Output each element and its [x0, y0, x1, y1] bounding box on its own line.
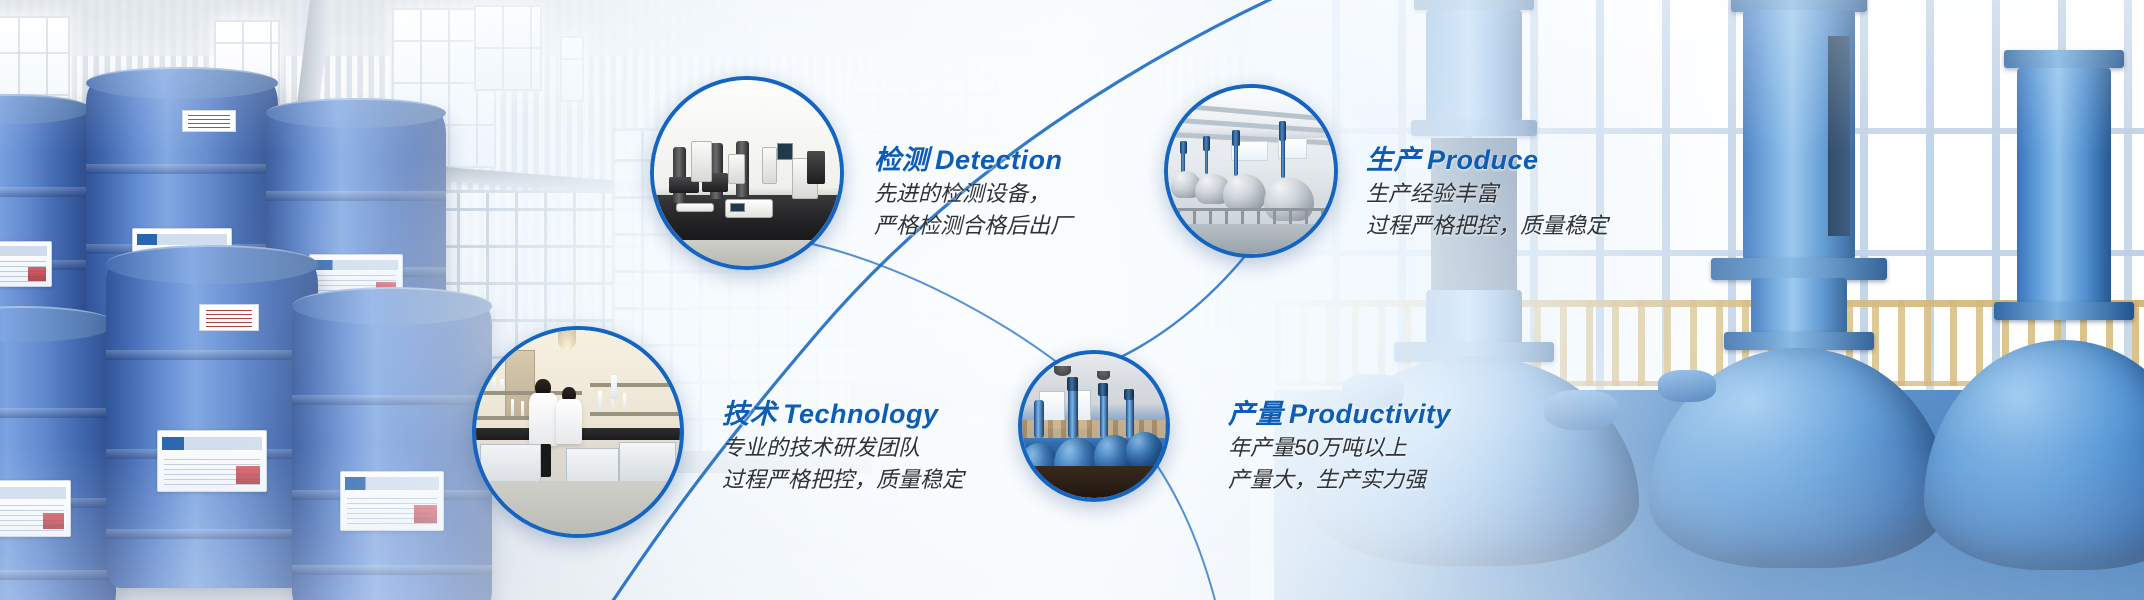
productivity-blue-reactors-photo — [1022, 354, 1166, 498]
produce-photo-circle[interactable] — [1164, 84, 1338, 258]
detection-photo-circle[interactable] — [650, 76, 844, 270]
produce-title-en: Produce — [1427, 145, 1539, 175]
technology-heading: 技术Technology — [722, 398, 964, 432]
produce-to-productivity-link — [1110, 250, 1250, 362]
technology-line-1: 专业的技术研发团队 — [722, 432, 964, 465]
productivity-text-block: 产量Productivity 年产量50万吨以上 产量大，生产实力强 — [1228, 398, 1451, 497]
connector-arc-graphic — [0, 0, 2144, 600]
detection-line-1: 先进的检测设备， — [874, 178, 1072, 211]
technology-title-cn: 技术 — [722, 399, 777, 429]
produce-heading: 生产Produce — [1366, 144, 1608, 178]
technology-text-block: 技术Technology 专业的技术研发团队 过程严格把控，质量稳定 — [722, 398, 964, 497]
productivity-photo-circle[interactable] — [1018, 350, 1170, 502]
technology-line-2: 过程严格把控，质量稳定 — [722, 464, 964, 497]
detection-title-cn: 检测 — [874, 145, 929, 175]
productivity-line-1: 年产量50万吨以上 — [1228, 432, 1451, 465]
productivity-title-en: Productivity — [1289, 399, 1451, 429]
detection-lab-equipment-photo — [654, 80, 840, 266]
produce-line-2: 过程严格把控，质量稳定 — [1366, 210, 1608, 243]
productivity-line-2: 产量大，生产实力强 — [1228, 464, 1451, 497]
detection-text-block: 检测Detection 先进的检测设备， 严格检测合格后出厂 — [874, 144, 1072, 243]
produce-line-1: 生产经验丰富 — [1366, 178, 1608, 211]
produce-steel-reactors-photo — [1168, 88, 1334, 254]
productivity-heading: 产量Productivity — [1228, 398, 1451, 432]
technology-photo-circle[interactable] — [472, 326, 684, 538]
produce-text-block: 生产Produce 生产经验丰富 过程严格把控，质量稳定 — [1366, 144, 1608, 243]
productivity-title-cn: 产量 — [1228, 399, 1283, 429]
technology-title-en: Technology — [783, 399, 939, 429]
company-strength-banner: 检测Detection 先进的检测设备， 严格检测合格后出厂 技术Technol… — [0, 0, 2144, 600]
detection-line-2: 严格检测合格后出厂 — [874, 210, 1072, 243]
detection-heading: 检测Detection — [874, 144, 1072, 178]
produce-title-cn: 生产 — [1366, 145, 1421, 175]
detection-title-en: Detection — [935, 145, 1063, 175]
technology-lab-researchers-photo — [476, 330, 680, 534]
